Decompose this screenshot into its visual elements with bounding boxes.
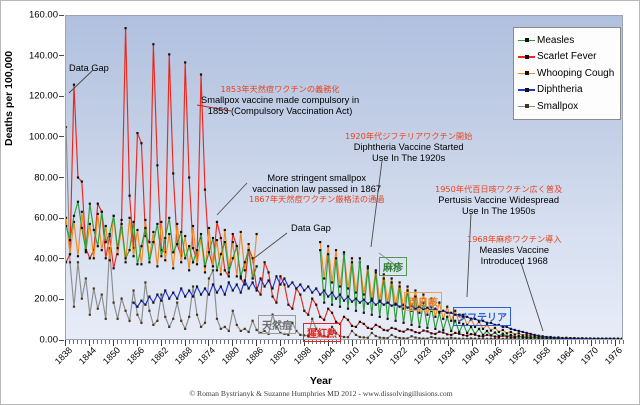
- x-axis-tick-label: 1862: [140, 345, 170, 375]
- x-axis-tick-mark: [523, 340, 524, 344]
- y-axis-tick-mark: [59, 258, 64, 259]
- y-axis-tick-label: 120.00: [1, 91, 58, 102]
- legend-swatch-icon: [518, 68, 535, 78]
- x-axis-tick-mark: [535, 340, 536, 344]
- annotation-smallpox-1853-en2: 1853 (Compulsory Vaccination Act): [201, 106, 359, 117]
- series-label-smallpox: 天然痘: [258, 315, 296, 334]
- x-axis-tick-mark: [563, 340, 564, 344]
- y-axis-tick-label: 60.00: [1, 213, 58, 224]
- x-axis-tick-mark: [404, 340, 405, 344]
- x-axis-tick-mark: [300, 340, 301, 344]
- legend-item-scarlet-fever[interactable]: Scarlet Fever: [518, 49, 614, 66]
- y-axis-tick-mark: [59, 218, 64, 219]
- series-label-scarlet-fever: 猩紅熱: [303, 323, 341, 342]
- x-axis-tick-mark: [408, 340, 409, 344]
- x-axis-tick-label: 1922: [379, 345, 409, 375]
- series-label-measles: 麻疹: [379, 257, 407, 276]
- legend-label: Whooping Cough: [537, 68, 614, 79]
- y-axis-tick-mark: [59, 136, 64, 137]
- annotation-measles-1968-en2: Introduced 1968: [467, 256, 562, 267]
- x-axis-tick-mark: [623, 340, 624, 344]
- annotation-pertussis-1950s-jp: 1950年代百日咳ワクチン広く普及: [435, 185, 562, 195]
- x-axis-tick-mark: [169, 340, 170, 344]
- annotation-diphtheria-1920s-en2: Use In The 1920s: [345, 153, 472, 164]
- annotation-pertussis-1950s: 1950年代百日咳ワクチン広く普及 Pertusis Vaccine Wides…: [435, 185, 562, 217]
- x-axis-tick-mark: [121, 340, 122, 344]
- x-axis-tick-label: 1856: [116, 345, 146, 375]
- x-axis-tick-mark: [348, 340, 349, 344]
- legend-item-whooping-cough[interactable]: Whooping Cough: [518, 65, 614, 82]
- x-axis-tick-mark: [571, 340, 572, 344]
- x-axis-tick-mark: [555, 340, 556, 344]
- y-axis-tick-label: 160.00: [1, 10, 58, 21]
- x-axis-tick-mark: [499, 340, 500, 344]
- x-axis-tick-mark: [197, 340, 198, 344]
- x-axis-tick-mark: [181, 340, 182, 344]
- annotation-measles-1968: 1968年麻疹ワクチン導入 Measles Vaccine Introduced…: [467, 235, 562, 267]
- x-axis-tick-mark: [244, 340, 245, 344]
- x-axis-tick-mark: [344, 340, 345, 344]
- x-axis-tick-mark: [105, 340, 106, 344]
- x-axis-tick-mark: [264, 340, 265, 344]
- x-axis-tick-mark: [165, 340, 166, 344]
- x-axis-tick-label: 1928: [403, 345, 433, 375]
- y-axis-tick-label: 40.00: [1, 253, 58, 264]
- x-axis-tick-mark: [240, 340, 241, 344]
- series-label-whooping-cough: 百日咳: [404, 292, 442, 311]
- legend-swatch-icon: [518, 85, 535, 95]
- x-axis-tick-mark: [539, 340, 540, 344]
- x-axis-tick-mark: [157, 340, 158, 344]
- annotation-pertussis-1950s-en1: Pertusis Vaccine Widespread: [435, 195, 562, 206]
- x-axis-tick-mark: [252, 340, 253, 344]
- x-axis-tick-label: 1850: [92, 345, 122, 375]
- x-axis-tick-mark: [296, 340, 297, 344]
- x-axis-tick-mark: [109, 340, 110, 344]
- x-axis-tick-mark: [228, 340, 229, 344]
- x-axis-tick-label: 1886: [236, 345, 266, 375]
- x-axis-tick-mark: [145, 340, 146, 344]
- x-axis-tick-label: 1958: [523, 345, 553, 375]
- legend-swatch-icon: [518, 52, 535, 62]
- x-axis-tick-mark: [487, 340, 488, 344]
- x-axis-tick-label: 1970: [570, 345, 600, 375]
- x-axis-tick-mark: [201, 340, 202, 344]
- x-axis-tick-mark: [388, 340, 389, 344]
- legend-label: Smallpox: [537, 101, 578, 112]
- x-axis-tick-mark: [456, 340, 457, 344]
- x-axis-tick-mark: [189, 340, 190, 344]
- x-axis-tick-mark: [476, 340, 477, 344]
- y-axis-tick-label: 20.00: [1, 294, 58, 305]
- x-axis-tick-mark: [392, 340, 393, 344]
- x-axis-tick-mark: [607, 340, 608, 344]
- x-axis-tick-mark: [396, 340, 397, 344]
- chart-frame: Deaths per 100,000 0.0020.0040.0060.0080…: [0, 0, 640, 405]
- annotation-smallpox-1867-en1: More stringent smallpox: [249, 173, 384, 184]
- x-axis-tick-mark: [177, 340, 178, 344]
- x-axis-tick-mark: [356, 340, 357, 344]
- x-axis-tick-mark: [117, 340, 118, 344]
- y-axis-tick-mark: [59, 299, 64, 300]
- annotation-smallpox-1853: 1853年天然痘ワクチンの義務化 Smallpox vaccine made c…: [201, 85, 359, 117]
- x-axis-tick-mark: [220, 340, 221, 344]
- x-axis-tick-mark: [125, 340, 126, 344]
- annotation-measles-1968-en1: Measles Vaccine: [467, 245, 562, 256]
- x-axis-tick-mark: [129, 340, 130, 344]
- x-axis-tick-mark: [69, 340, 70, 344]
- x-axis-tick-mark: [468, 340, 469, 344]
- legend-item-diphtheria[interactable]: Diphtheria: [518, 82, 614, 99]
- x-axis-tick-mark: [173, 340, 174, 344]
- x-axis-tick-mark: [460, 340, 461, 344]
- annotation-smallpox-1867: More stringent smallpox vaccination law …: [249, 173, 384, 205]
- x-axis-tick-mark: [440, 340, 441, 344]
- x-axis-tick-mark: [133, 340, 134, 344]
- x-axis-tick-mark: [547, 340, 548, 344]
- annotation-data-gap-1: Data Gap: [69, 63, 109, 73]
- x-axis-tick-mark: [85, 340, 86, 344]
- x-axis-tick-mark: [575, 340, 576, 344]
- x-axis-tick-mark: [436, 340, 437, 344]
- y-axis-tick-label: 80.00: [1, 172, 58, 183]
- x-axis-tick-mark: [583, 340, 584, 344]
- y-axis-tick-mark: [59, 15, 64, 16]
- annotation-smallpox-1853-en1: Smallpox vaccine made compulsory in: [201, 95, 359, 106]
- x-axis-tick-mark: [216, 340, 217, 344]
- x-axis-tick-mark: [380, 340, 381, 344]
- x-axis-tick-label: 1844: [68, 345, 98, 375]
- x-axis-tick-mark: [101, 340, 102, 344]
- legend-swatch-icon: [518, 101, 535, 111]
- x-axis-tick-mark: [268, 340, 269, 344]
- x-axis-tick-mark: [579, 340, 580, 344]
- annotation-diphtheria-1920s-en1: Diphtheria Vaccine Started: [345, 142, 472, 153]
- legend-label: Scarlet Fever: [537, 51, 596, 62]
- x-axis-tick-mark: [276, 340, 277, 344]
- x-axis-tick-mark: [412, 340, 413, 344]
- x-axis-tick-mark: [464, 340, 465, 344]
- x-axis-tick-label: 1892: [260, 345, 290, 375]
- x-axis-tick-mark: [416, 340, 417, 344]
- x-axis-tick-mark: [248, 340, 249, 344]
- x-axis-tick-mark: [599, 340, 600, 344]
- y-axis-tick-mark: [59, 96, 64, 97]
- x-axis-tick-mark: [432, 340, 433, 344]
- legend-item-measles[interactable]: Measles: [518, 32, 614, 49]
- y-axis-tick-mark: [59, 340, 64, 341]
- annotation-smallpox-1867-jp: 1867年天然痘ワクチン厳格法の通過: [249, 195, 384, 205]
- x-axis-tick-mark: [515, 340, 516, 344]
- x-axis-tick-label: 1952: [499, 345, 529, 375]
- legend: MeaslesScarlet FeverWhooping CoughDiphth…: [513, 27, 621, 120]
- x-axis-tick-mark: [420, 340, 421, 344]
- annotation-pertussis-1950s-en2: Use In The 1950s: [435, 206, 562, 217]
- x-axis-tick-mark: [81, 340, 82, 344]
- x-axis-tick-mark: [527, 340, 528, 344]
- x-axis-tick-mark: [364, 340, 365, 344]
- annotation-smallpox-1853-jp: 1853年天然痘ワクチンの義務化: [201, 85, 359, 95]
- x-axis-tick-label: 1976: [594, 345, 624, 375]
- x-axis-tick-mark: [272, 340, 273, 344]
- x-axis-tick-mark: [360, 340, 361, 344]
- y-axis-tick-label: 140.00: [1, 50, 58, 61]
- annotation-diphtheria-1920s-jp: 1920年代ジフテリアワクチン開始: [345, 132, 472, 142]
- x-axis-tick-mark: [551, 340, 552, 344]
- x-axis-tick-mark: [288, 340, 289, 344]
- x-axis-tick-mark: [444, 340, 445, 344]
- x-axis-tick-mark: [511, 340, 512, 344]
- y-axis-tick-mark: [59, 177, 64, 178]
- y-axis-tick-label: 0.00: [1, 335, 58, 346]
- x-axis-tick-mark: [73, 340, 74, 344]
- x-axis-tick-mark: [260, 340, 261, 344]
- y-axis-tick-mark: [59, 55, 64, 56]
- annotation-data-gap-2: Data Gap: [291, 223, 331, 233]
- x-axis-tick-mark: [384, 340, 385, 344]
- annotation-diphtheria-1920s: 1920年代ジフテリアワクチン開始 Diphtheria Vaccine Sta…: [345, 132, 472, 164]
- x-axis-tick-mark: [484, 340, 485, 344]
- x-axis-tick-mark: [603, 340, 604, 344]
- x-axis-labels: 1838184418501856186218681874188018861892…: [65, 345, 623, 373]
- copyright-notice: © Roman Bystrianyk & Suzanne Humphries M…: [1, 389, 640, 398]
- annotation-measles-1968-jp: 1968年麻疹ワクチン導入: [467, 235, 562, 245]
- x-axis-tick-label: 1904: [307, 345, 337, 375]
- legend-swatch-icon: [518, 35, 535, 45]
- x-axis-tick-label: 1898: [284, 345, 314, 375]
- y-axis-tick-label: 100.00: [1, 131, 58, 142]
- x-axis-tick-mark: [619, 340, 620, 344]
- x-axis-tick-mark: [372, 340, 373, 344]
- x-axis-tick-mark: [452, 340, 453, 344]
- x-axis-tick-mark: [507, 340, 508, 344]
- x-axis-tick-mark: [205, 340, 206, 344]
- legend-label: Diphtheria: [537, 84, 583, 95]
- x-axis-tick-mark: [77, 340, 78, 344]
- x-axis-tick-mark: [93, 340, 94, 344]
- legend-label: Measles: [537, 35, 574, 46]
- x-axis-tick-mark: [153, 340, 154, 344]
- x-axis-tick-mark: [149, 340, 150, 344]
- series-label-diphtheria: ジフテリア: [453, 307, 511, 326]
- x-axis-tick-mark: [193, 340, 194, 344]
- x-axis-tick-mark: [491, 340, 492, 344]
- x-axis-tick-mark: [97, 340, 98, 344]
- x-axis-tick-mark: [559, 340, 560, 344]
- x-axis-tick-mark: [587, 340, 588, 344]
- x-axis-title: Year: [1, 375, 640, 387]
- x-axis-tick-mark: [236, 340, 237, 344]
- x-axis-tick-mark: [141, 340, 142, 344]
- x-axis-tick-mark: [480, 340, 481, 344]
- x-axis-tick-mark: [531, 340, 532, 344]
- x-axis-tick-mark: [503, 340, 504, 344]
- x-axis-tick-mark: [428, 340, 429, 344]
- x-axis-tick-label: 1838: [44, 345, 74, 375]
- x-axis-tick-mark: [595, 340, 596, 344]
- x-axis-tick-label: 1964: [547, 345, 577, 375]
- x-axis-tick-mark: [224, 340, 225, 344]
- x-axis-tick-mark: [284, 340, 285, 344]
- x-axis-tick-label: 1910: [331, 345, 361, 375]
- x-axis-tick-label: 1916: [355, 345, 385, 375]
- legend-item-smallpox[interactable]: Smallpox: [518, 98, 614, 115]
- x-axis-tick-mark: [292, 340, 293, 344]
- x-axis-tick-mark: [368, 340, 369, 344]
- x-axis-tick-mark: [611, 340, 612, 344]
- x-axis-tick-mark: [212, 340, 213, 344]
